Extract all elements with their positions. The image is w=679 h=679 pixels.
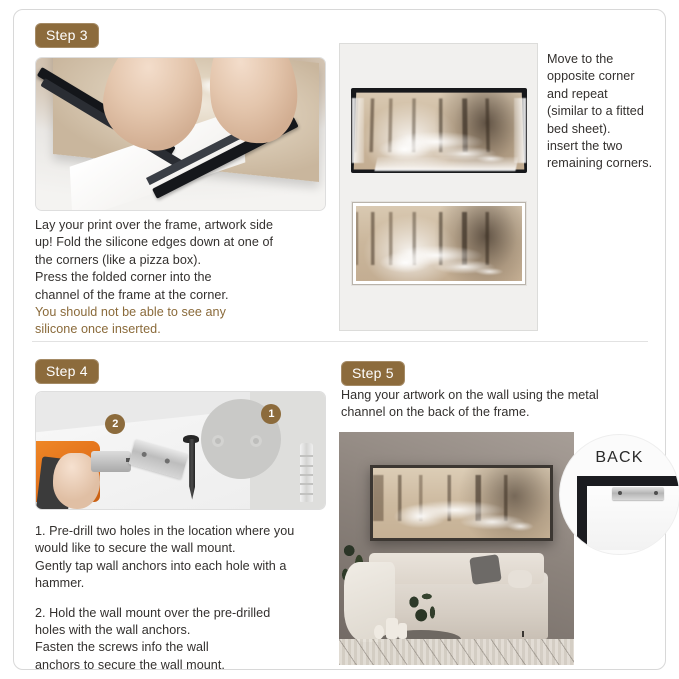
print-lifted-image <box>351 88 527 173</box>
instruction-line: anchors to secure the wall mount. <box>35 657 330 674</box>
sofa-leg <box>522 631 524 637</box>
step-5-badge: Step 5 <box>341 361 405 386</box>
step-4-photo: 1 2 <box>35 391 326 510</box>
artwork-mat-border <box>352 202 526 285</box>
finished-framed-artwork <box>351 201 527 286</box>
step-4-badge: Step 4 <box>35 359 99 384</box>
callout-number-1: 1 <box>261 404 281 424</box>
step-4-instructions: 1. Pre-drill two holes in the location w… <box>35 523 330 674</box>
throw-pillow <box>469 554 502 585</box>
back-label: BACK <box>560 449 679 467</box>
side-note-line: Move to the <box>547 51 669 68</box>
instruction-line: up! Fold the silicone edges down at one … <box>35 234 327 251</box>
instruction-line: Lay your print over the frame, artwork s… <box>35 217 327 234</box>
anchor-rib <box>300 455 313 457</box>
side-note-line: remaining corners. <box>547 155 669 172</box>
instruction-line: would like to secure the wall mount. <box>35 540 330 557</box>
metal-channel <box>612 487 664 500</box>
highlight-line: silicone once inserted. <box>35 321 327 338</box>
side-note-line: (similar to a fitted <box>547 103 669 120</box>
instruction-line: the corners (like a pizza box). <box>35 252 327 269</box>
instruction-line: channel on the back of the frame. <box>341 404 647 421</box>
decor-bowl <box>374 625 383 639</box>
highlight-line: You should not be able to see any <box>35 304 327 321</box>
step-3-instructions: Lay your print over the frame, artwork s… <box>35 217 327 339</box>
channel-screw <box>654 491 658 495</box>
print-lift-left <box>352 98 364 163</box>
channel-screw <box>618 491 622 495</box>
frame-back-left-edge <box>577 476 587 550</box>
anchor-rib <box>300 483 313 485</box>
anchor-rib <box>300 474 313 476</box>
instruction-line: Press the folded corner into the <box>35 269 327 286</box>
table-plant <box>402 588 442 635</box>
instruction-line: channel of the frame at the corner. <box>35 287 327 304</box>
bracket-hole <box>164 458 170 464</box>
frame-back-top-edge <box>577 476 679 486</box>
candle-vase <box>386 618 398 639</box>
instruction-sheet: Step 3 Lay your print over the frame, ar… <box>13 9 666 670</box>
instruction-line: Fasten the screws info the wall <box>35 639 330 656</box>
side-note-line: opposite corner <box>547 68 669 85</box>
instruction-line: hammer. <box>35 575 330 592</box>
instruction-line: holes with the wall anchors. <box>35 622 330 639</box>
print-lift-right <box>514 98 526 163</box>
candle-vase <box>398 623 407 639</box>
hung-artwork <box>370 465 553 542</box>
artwork-canvas <box>373 468 550 539</box>
wall-anchor <box>300 443 313 502</box>
step-5-instructions: Hang your artwork on the wall using the … <box>341 387 647 422</box>
step-5-photo <box>339 432 574 665</box>
anchor-rib <box>300 465 313 467</box>
instruction-line: 2. Hold the wall mount over the pre-dril… <box>35 605 330 622</box>
side-note-line: bed sheet). <box>547 121 669 138</box>
side-note-line: insert the two <box>547 138 669 155</box>
bracket-hole <box>141 451 147 457</box>
bolster-pillow <box>508 570 532 588</box>
step-3-gallery-panel <box>339 43 538 331</box>
step-3-side-note: Move to the opposite corner and repeat (… <box>547 51 669 173</box>
step-3-photo <box>35 57 326 211</box>
side-note-line: and repeat <box>547 86 669 103</box>
instruction-line: 1. Pre-drill two holes in the location w… <box>35 523 330 540</box>
back-detail-callout: BACK <box>560 435 679 554</box>
rug-pattern <box>339 639 574 665</box>
instruction-line: Gently tap wall anchors into each hole w… <box>35 558 330 575</box>
step-3-badge: Step 3 <box>35 23 99 48</box>
print-lift-bottom <box>374 157 518 171</box>
instruction-line: Hang your artwork on the wall using the … <box>341 387 647 404</box>
anchor-rib <box>300 493 313 495</box>
section-divider <box>32 341 648 342</box>
